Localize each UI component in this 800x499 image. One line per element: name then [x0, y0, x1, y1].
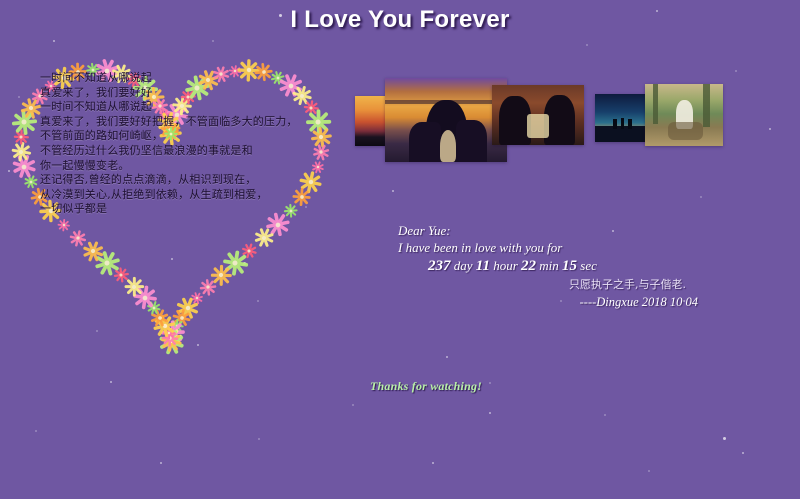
love-letter: Dear Yue: I have been in love with you f… [398, 222, 698, 311]
letter-signature: ----Dingxue 2018 10 04 [398, 294, 698, 311]
sparkle-dot [489, 412, 491, 414]
sparkle-dot [432, 462, 434, 464]
counter-seconds-unit: sec [580, 258, 597, 273]
sparkle-dot [742, 452, 744, 454]
love-counter: 237 day 11 hour 22 min 15 sec [428, 257, 698, 275]
counter-days: 237 [428, 258, 451, 274]
counter-hours: 11 [476, 258, 490, 274]
sparkle-dot [446, 356, 448, 358]
letter-greeting: Dear Yue: [398, 222, 698, 239]
sparkle-dot [110, 381, 112, 383]
sparkle-dot [160, 462, 162, 464]
photo-outdoor-family[interactable] [645, 84, 723, 146]
letter-chinese-line: 只愿执子之手,与子偕老. [398, 276, 698, 293]
letter-line: I have been in love with you for [398, 239, 698, 256]
sparkle-dot [648, 470, 650, 472]
photo-couple-candle[interactable] [492, 85, 584, 145]
poem-line: 一切似乎都是 [40, 202, 300, 217]
sparkle-dot [723, 437, 726, 440]
counter-minutes: 22 [521, 258, 536, 274]
photo-couple-kiss-sunset[interactable] [385, 78, 507, 162]
counter-hours-unit: hour [493, 258, 518, 273]
sparkle-dot [489, 382, 491, 384]
page-stage: I Love You Forever 一时间不知道从哪说起真爱来了，我们要好好一… [0, 0, 800, 499]
photo-gallery [0, 0, 800, 200]
counter-seconds: 15 [562, 258, 577, 274]
counter-days-unit: day [454, 258, 473, 273]
sparkle-dot [352, 404, 354, 406]
counter-minutes-unit: min [539, 258, 559, 273]
sparkle-dot [35, 430, 37, 432]
sparkle-dot [604, 414, 606, 416]
sparkle-dot [258, 438, 260, 440]
thanks-message: Thanks for watching! [370, 379, 482, 394]
